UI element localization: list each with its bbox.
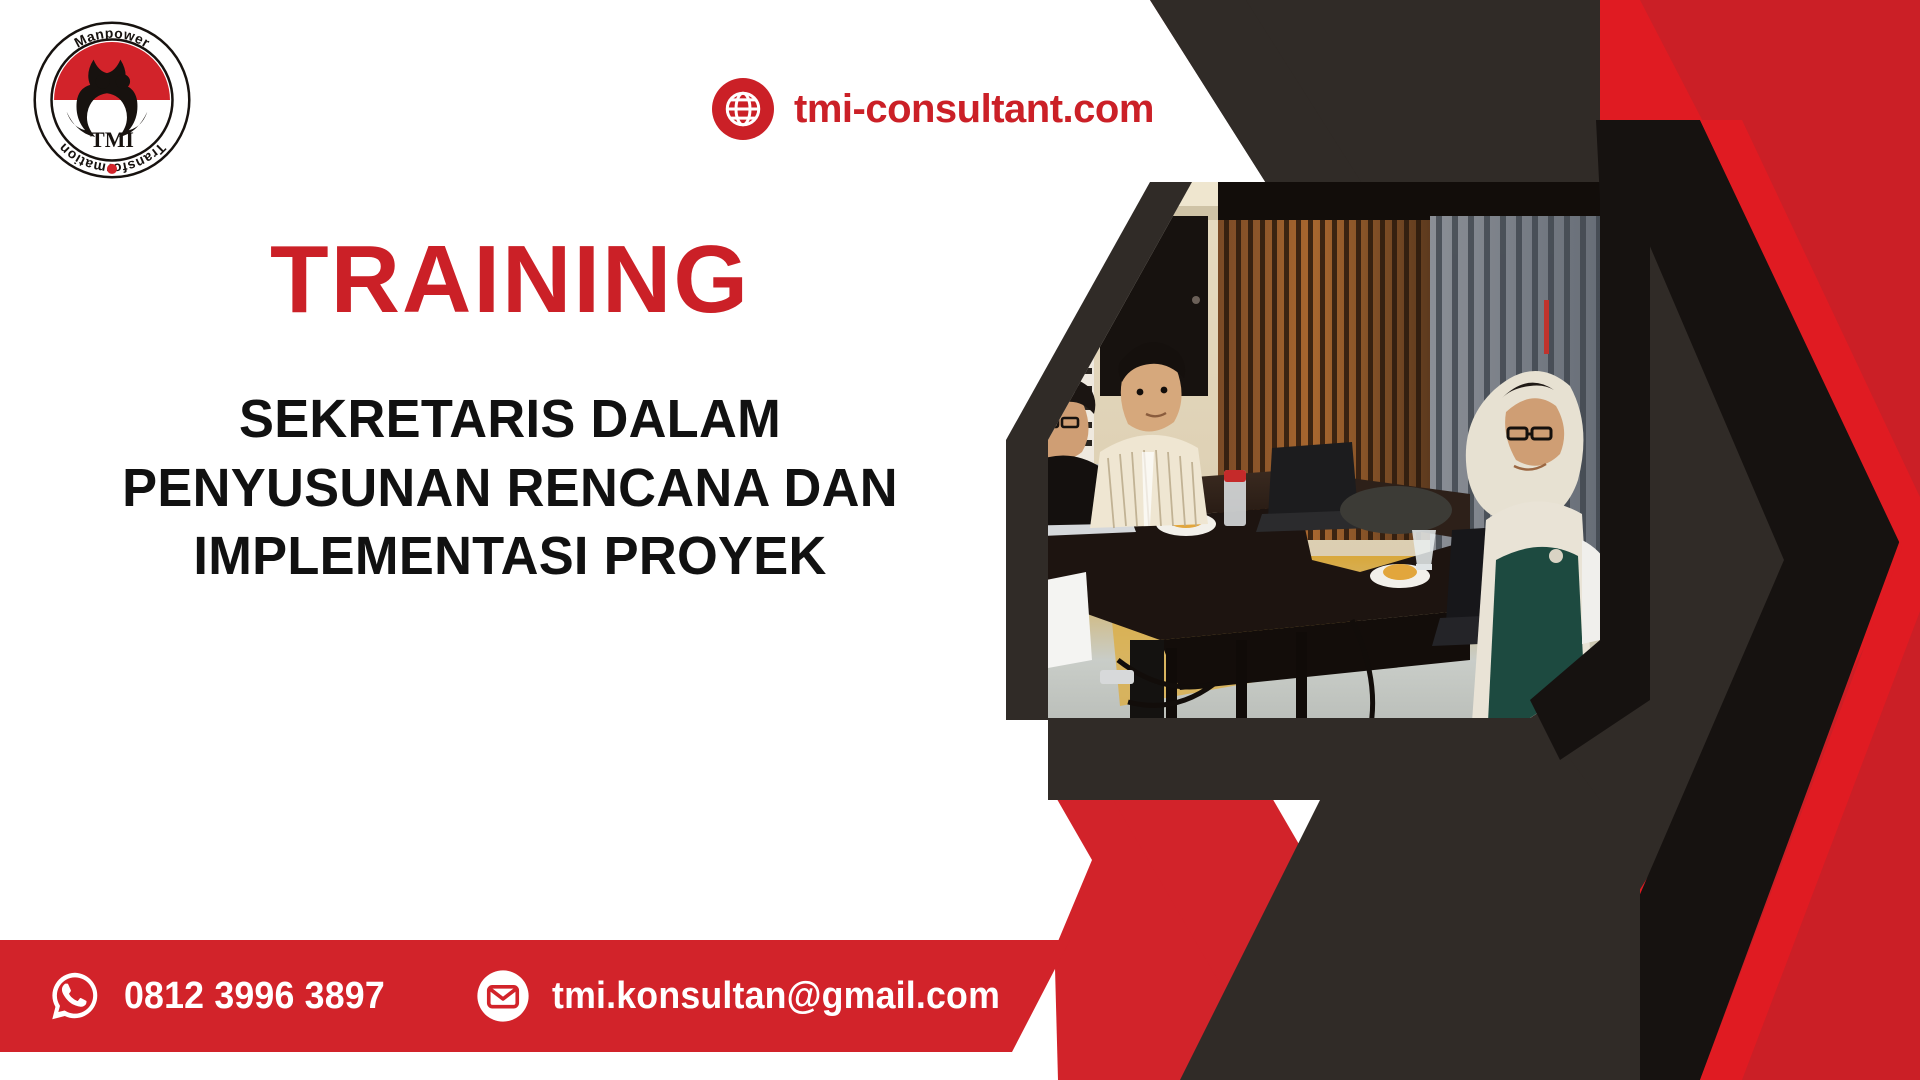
envelope-icon xyxy=(474,967,532,1025)
website-row[interactable]: tmi-consultant.com xyxy=(712,78,1154,140)
title-line-3: IMPLEMENTASI PROYEK xyxy=(15,522,1004,591)
title-line-2: PENYUSUNAN RENCANA DAN xyxy=(15,454,1004,523)
contact-email[interactable]: tmi.konsultan@gmail.com xyxy=(474,967,1029,1025)
tmi-logo-mark: TMI Manpower Transformation xyxy=(28,16,196,184)
whatsapp-icon xyxy=(46,967,104,1025)
title-line-1: SEKRETARIS DALAM xyxy=(15,385,1004,454)
website-url[interactable]: tmi-consultant.com xyxy=(794,89,1154,129)
contact-items: 0812 3996 3897 tmi.konsultan@gmail.com xyxy=(46,940,1028,1052)
globe-icon xyxy=(712,78,774,140)
email-address[interactable]: tmi.konsultan@gmail.com xyxy=(552,975,1000,1018)
eyebrow-training: TRAINING xyxy=(0,232,1020,328)
phone-number[interactable]: 0812 3996 3897 xyxy=(124,975,385,1018)
page-title: SEKRETARIS DALAM PENYUSUNAN RENCANA DAN … xyxy=(15,385,1004,591)
tmi-logo[interactable]: TMI Manpower Transformation xyxy=(28,16,196,184)
svg-text:TMI: TMI xyxy=(90,128,134,152)
training-poster: TMI Manpower Transformation tmi-consulta… xyxy=(0,0,1920,1080)
contact-phone[interactable]: 0812 3996 3897 xyxy=(46,967,402,1025)
